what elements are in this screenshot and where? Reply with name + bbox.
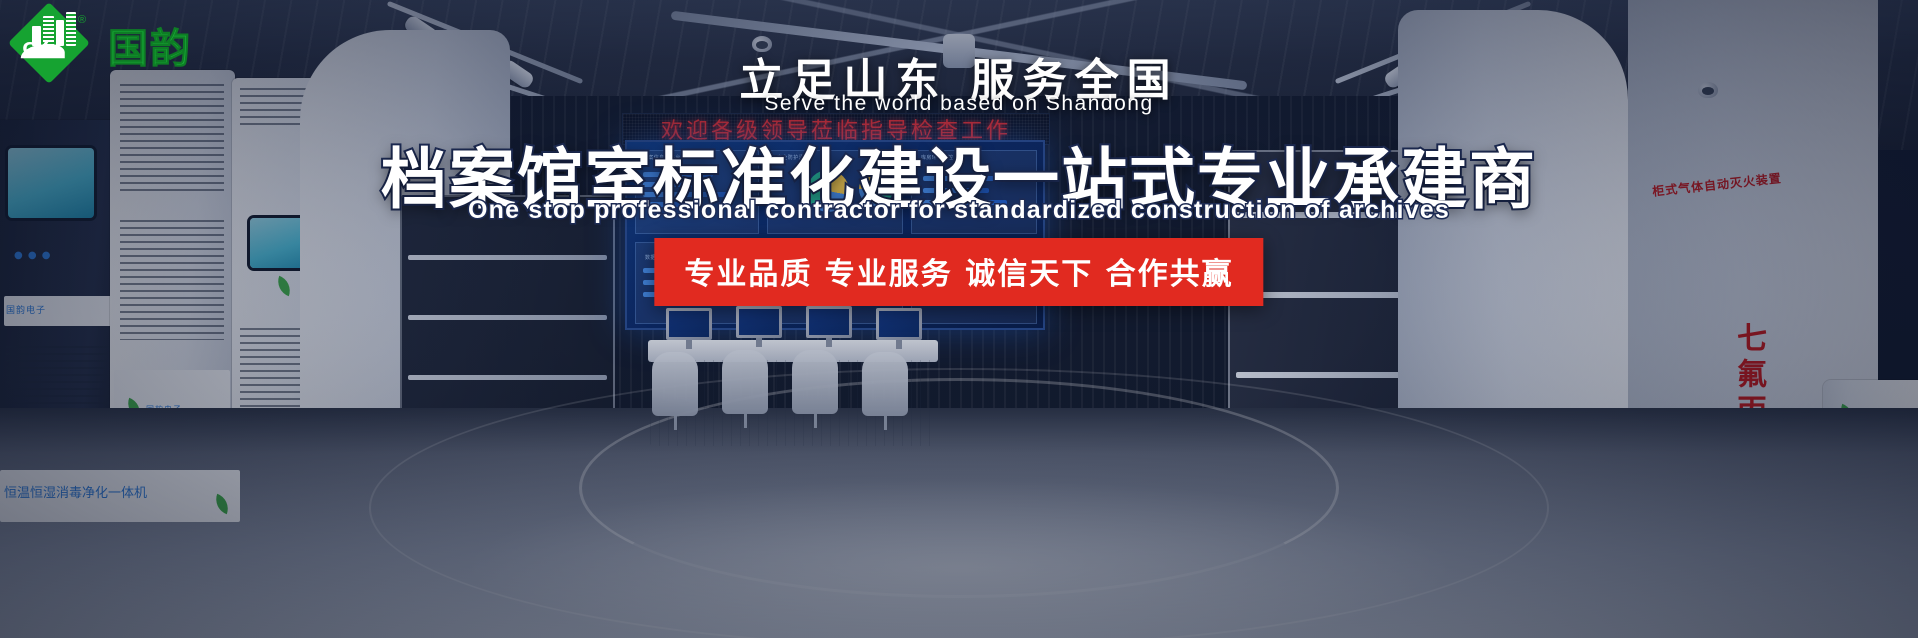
- brand-logo[interactable]: GY ® 国韵: [14, 8, 192, 82]
- registered-trademark-icon: ®: [78, 14, 86, 26]
- office-chair: [652, 352, 698, 416]
- equipment-brand-label: 国韵电子: [6, 303, 46, 316]
- hero-banner: ● ● ● 国韵电子 国韵电子 欢迎: [0, 0, 1918, 638]
- monitor-icon: [876, 308, 922, 340]
- monitor-icon: [806, 306, 852, 338]
- headline-english: One stop professional contractor for sta…: [468, 196, 1450, 225]
- vent-grille: [120, 220, 224, 340]
- equipment-label: ● ● ●: [14, 250, 52, 261]
- leaf-icon: [274, 276, 295, 297]
- office-chair: [862, 352, 908, 416]
- logo-initials: GY: [6, 40, 64, 60]
- monitor-icon: [666, 308, 712, 340]
- control-panel-screen: [8, 148, 94, 218]
- cabinet-sign-top: 柜式气体自动灭火装置: [1651, 169, 1782, 199]
- monitor-icon: [736, 306, 782, 338]
- office-chair: [792, 350, 838, 414]
- brand-name: 国韵: [108, 16, 192, 74]
- left-machine-label: 恒温恒湿消毒净化一体机: [4, 482, 147, 501]
- tagline-english: Serve the world based on Shandong: [764, 92, 1153, 116]
- dome-camera-icon: [1698, 82, 1718, 98]
- office-chair: [722, 350, 768, 414]
- vent-grille: [120, 84, 224, 194]
- slogan-banner-button[interactable]: 专业品质 专业服务 诚信天下 合作共赢: [654, 238, 1263, 306]
